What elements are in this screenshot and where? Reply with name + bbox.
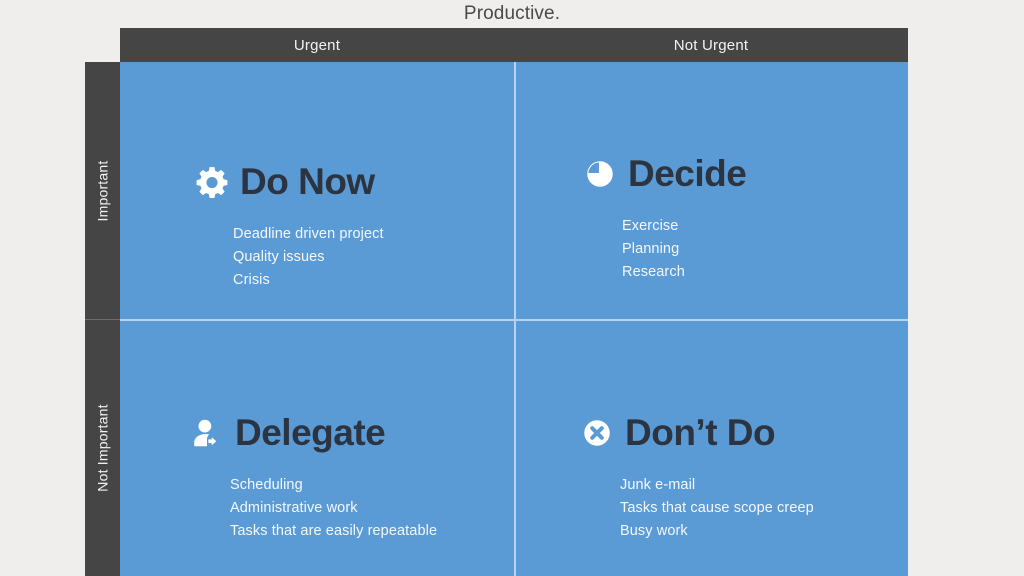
list-item: Junk e-mail (620, 474, 814, 497)
quadrant-decide[interactable]: Decide Exercise Planning Research (514, 62, 908, 319)
quadrant-delegate[interactable]: Delegate Scheduling Administrative work … (120, 319, 514, 576)
quadrant-decide-title: Decide (628, 154, 746, 194)
list-item: Tasks that are easily repeatable (230, 520, 437, 543)
quadrant-do-now-header: Do Now (195, 162, 375, 202)
quadrant-dont-do[interactable]: Don’t Do Junk e-mail Tasks that cause sc… (514, 319, 908, 576)
quadrant-delegate-header: Delegate (190, 413, 385, 453)
column-header-not-urgent-label: Not Urgent (674, 37, 749, 54)
person-forward-icon (190, 416, 224, 450)
pie-chart-icon (583, 157, 617, 191)
list-item: Exercise (622, 215, 685, 238)
quadrant-do-now-title: Do Now (240, 162, 375, 202)
column-header-urgent: Urgent (120, 28, 514, 62)
page-title: Productive. (0, 1, 1024, 27)
list-item: Planning (622, 238, 685, 261)
quadrant-do-now-list: Deadline driven project Quality issues C… (233, 223, 384, 292)
quadrant-decide-list: Exercise Planning Research (622, 215, 685, 284)
column-header-bar: Urgent Not Urgent (120, 28, 908, 62)
list-item: Tasks that cause scope creep (620, 497, 814, 520)
eisenhower-matrix: Urgent Not Urgent Important Not Importan… (85, 28, 908, 576)
quadrant-decide-header: Decide (583, 154, 746, 194)
row-header-important: Important (85, 62, 120, 319)
quadrant-dont-do-list: Junk e-mail Tasks that cause scope creep… (620, 474, 814, 543)
row-header-important-label: Important (95, 160, 111, 221)
circle-x-icon (580, 416, 614, 450)
list-item: Administrative work (230, 497, 437, 520)
quadrant-do-now[interactable]: Do Now Deadline driven project Quality i… (120, 62, 514, 319)
quadrant-dont-do-header: Don’t Do (580, 413, 775, 453)
quadrant-dont-do-title: Don’t Do (625, 413, 775, 453)
list-item: Busy work (620, 520, 814, 543)
row-header-bar: Important Not Important (85, 62, 120, 576)
quadrant-delegate-list: Scheduling Administrative work Tasks tha… (230, 474, 437, 543)
list-item: Deadline driven project (233, 223, 384, 246)
list-item: Quality issues (233, 246, 384, 269)
column-header-urgent-label: Urgent (294, 37, 340, 54)
quadrant-grid: Do Now Deadline driven project Quality i… (120, 62, 908, 576)
list-item: Crisis (233, 269, 384, 292)
list-item: Scheduling (230, 474, 437, 497)
row-header-not-important-label: Not Important (95, 404, 111, 491)
gear-icon (195, 165, 229, 199)
quadrant-delegate-title: Delegate (235, 413, 385, 453)
row-header-not-important: Not Important (85, 319, 120, 576)
column-header-not-urgent: Not Urgent (514, 28, 908, 62)
list-item: Research (622, 261, 685, 284)
